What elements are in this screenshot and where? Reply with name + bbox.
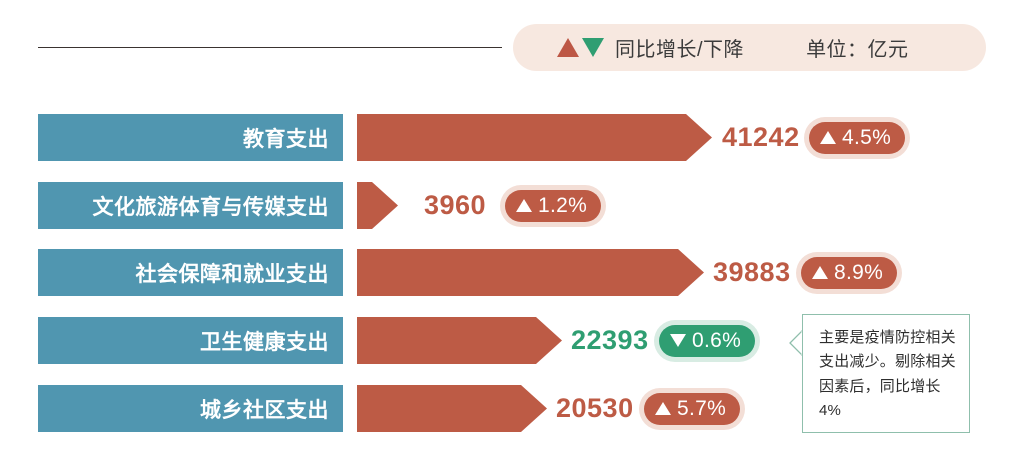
category-label: 城乡社区支出 [200, 394, 329, 424]
value-bar [357, 249, 704, 296]
change-badge: 1.2% [505, 190, 601, 222]
value-number: 22393 [571, 317, 649, 364]
callout-pointer-icon [789, 330, 803, 356]
change-label: 8.9% [834, 261, 883, 285]
value-bar [357, 114, 712, 161]
triangle-up-icon [516, 199, 532, 212]
legend-label: 同比增长/下降 [615, 33, 744, 62]
category-label-bar: 城乡社区支出 [38, 385, 343, 432]
triangle-up-icon [812, 266, 828, 279]
value-number: 3960 [424, 182, 486, 229]
header-divider-line [38, 47, 502, 48]
legend-pill: 同比增长/下降 单位：亿元 [513, 24, 986, 71]
value-bar [357, 385, 547, 432]
change-badge: 8.9% [801, 257, 897, 289]
change-badge: 5.7% [644, 393, 740, 425]
change-badge: 0.6% [659, 325, 755, 357]
triangle-down-icon [582, 38, 604, 57]
triangle-up-icon [655, 402, 671, 415]
category-label: 教育支出 [243, 123, 329, 153]
change-label: 1.2% [538, 194, 587, 218]
change-label: 5.7% [677, 397, 726, 421]
category-label: 文化旅游体育与传媒支出 [93, 191, 330, 221]
category-label-bar: 卫生健康支出 [38, 317, 343, 364]
value-bar [357, 317, 562, 364]
category-label-bar: 文化旅游体育与传媒支出 [38, 182, 343, 229]
triangle-up-icon [820, 131, 836, 144]
change-badge: 4.5% [809, 122, 905, 154]
value-number: 39883 [713, 249, 791, 296]
category-label: 卫生健康支出 [200, 326, 329, 356]
legend-unit-label: 单位：亿元 [806, 33, 909, 62]
value-number: 41242 [722, 114, 800, 161]
category-label-bar: 社会保障和就业支出 [38, 249, 343, 296]
triangle-up-icon [557, 38, 579, 57]
category-label: 社会保障和就业支出 [136, 258, 330, 288]
triangle-down-icon [670, 334, 686, 347]
legend-arrow-icons [557, 38, 604, 57]
value-bar [357, 182, 398, 229]
callout-note: 主要是疫情防控相关支出减少。剔除相关因素后，同比增长4% [802, 314, 970, 433]
change-label: 4.5% [842, 126, 891, 150]
value-number: 20530 [556, 385, 634, 432]
change-label: 0.6% [692, 329, 741, 353]
category-label-bar: 教育支出 [38, 114, 343, 161]
